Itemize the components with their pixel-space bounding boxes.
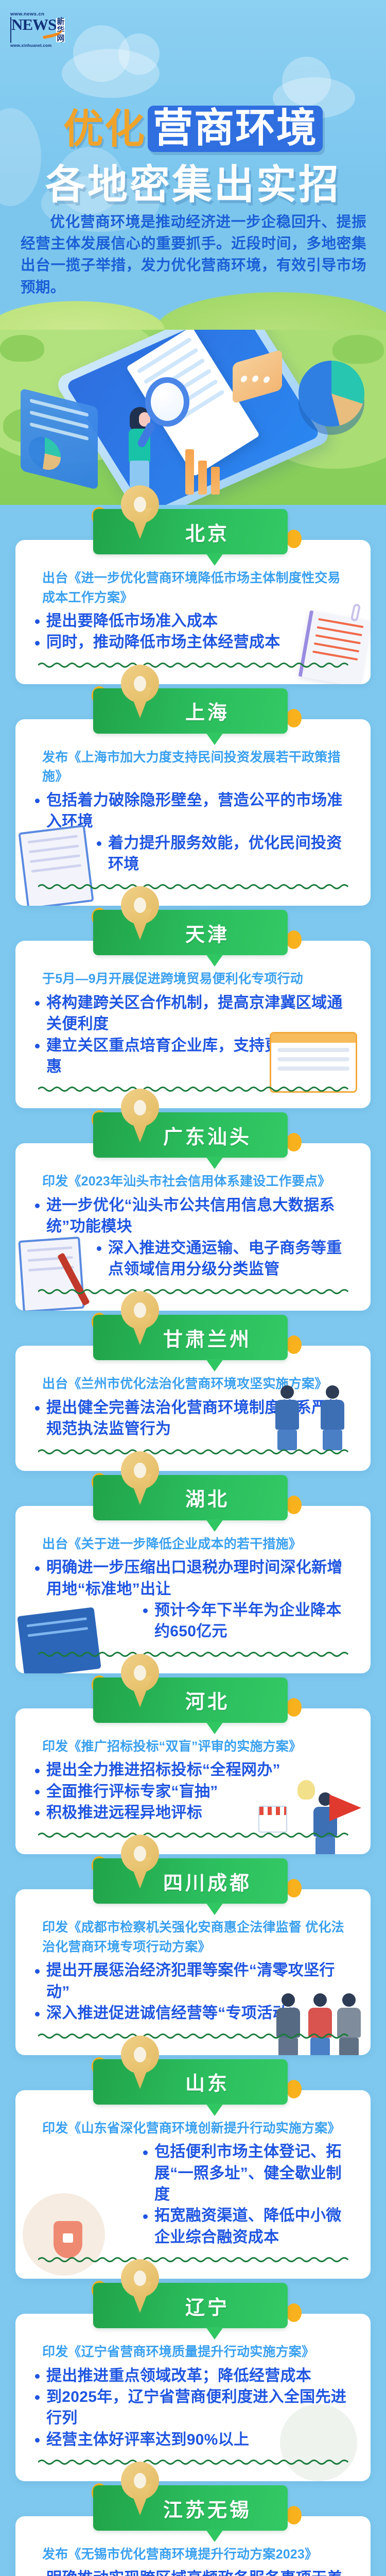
squiggle-divider <box>38 1288 350 1295</box>
measure-list: 提出全力推进招标投标“全程网办”全面推行评标专家“盲抽”积极推进远程异地评标 <box>33 1759 353 1823</box>
policy-document-title: 出台《兰州市优化法治化营商环境攻坚实施方案》 <box>33 1375 353 1394</box>
measure-item: 提出健全完善法治化营商环境制度体系严格规范执法监管行为 <box>33 1397 353 1440</box>
city-section: 山东印发《山东省深化营商环境创新提升行动实施方案》包括便利市场主体登记、拓展“一… <box>0 2055 386 2279</box>
squiggle-divider <box>38 2032 350 2040</box>
map-pin-icon <box>121 665 159 719</box>
title-line2: 各地密集出实招 <box>0 164 386 205</box>
measure-item: 进一步优化“汕头市公共信用信息大数据系统”功能模块 <box>33 1195 353 1238</box>
policy-document-title: 印发《成都市检察机关强化安商惠企法律监督 优化法治化营商环境专项行动方案》 <box>33 1918 353 1957</box>
growth-arrows-icon <box>185 449 220 495</box>
dot-decor <box>286 1496 302 1514</box>
xinhua-logo: www.news.cn NEWS 新华网 www.xinhuanet.com <box>10 11 62 48</box>
map-pin-icon <box>121 2036 159 2090</box>
map-pin-icon <box>121 886 159 941</box>
city-tag[interactable]: 河北 <box>93 1677 288 1723</box>
city-card: 出台《关于进一步降低企业成本的若干措施》明确进一步压缩出口退税办理时间深化新增用… <box>15 1506 371 1673</box>
measure-item: 着力提升服务效能，优化民间投资环境 <box>95 833 353 875</box>
city-card: 出台《进一步优化营商环境降低市场主体制度性交易成本工作方案》提出要降低市场准入成… <box>15 540 371 684</box>
measure-item: 到2025年，辽宁省营商便利度进入全国先进行列 <box>33 2386 353 2429</box>
bush-icon <box>332 335 384 364</box>
dot-decor <box>286 2303 302 2322</box>
city-name: 辽宁 <box>185 2292 230 2320</box>
city-card: 印发《推广招标投标“双盲”评审的实施方案》提出全力推进招标投标“全程网办”全面推… <box>15 1708 371 1855</box>
city-section: 甘肃兰州出台《兰州市优化法治化营商环境攻坚实施方案》提出健全完善法治化营商环境制… <box>0 1311 386 1470</box>
title-orange: 优化 <box>63 109 148 149</box>
measure-item: 拓宽融资渠道、降低中小微企业综合融资成本 <box>141 2205 353 2248</box>
measure-item: 深入推进交通运输、电子商务等重点领域信用分级分类监管 <box>95 1238 353 1280</box>
hill-decor <box>0 283 237 330</box>
measure-item: 全面推行评标专家“盲抽” <box>33 1781 353 1802</box>
city-tag[interactable]: 四川成都 <box>93 1858 288 1904</box>
city-tag[interactable]: 上海 <box>93 688 288 734</box>
measure-item: 同时，推动降低市场主体经营成本 <box>33 632 353 653</box>
city-tag[interactable]: 山东 <box>93 2059 288 2105</box>
measure-list: 进一步优化“汕头市公共信用信息大数据系统”功能模块深入推进交通运输、电子商务等重… <box>33 1195 353 1280</box>
policy-document-title: 印发《辽宁省营商环境质量提升行动实施方案》 <box>33 2343 353 2362</box>
city-name: 四川成都 <box>163 1867 252 1895</box>
city-tag[interactable]: 广东汕头 <box>93 1112 288 1158</box>
city-tag[interactable]: 辽宁 <box>93 2283 288 2328</box>
measure-item: 提出要降低市场准入成本 <box>33 611 353 632</box>
policy-document-title: 发布《上海市加大力度支持民间投资发展若干政策措施》 <box>33 748 353 787</box>
map-pin-icon <box>121 2259 159 2314</box>
measure-list: 将构建跨关区合作机制，提高京津冀区域通关便利度建立关区重点培育企业库，支持更多企… <box>33 992 353 1078</box>
city-name: 广东汕头 <box>163 1121 252 1149</box>
measure-list: 包括便利市场主体登记、拓展“一照多址”、健全歇业制度拓宽融资渠道、降低中小微企业… <box>33 2141 353 2248</box>
city-tag[interactable]: 江苏无锡 <box>93 2485 288 2531</box>
page-title: 优化 营商环境 各地密集出实招 <box>0 106 386 205</box>
measure-list: 明确进一步压缩出口退税办理时间深化新增用地“标准地”出让预计今年下半年为企业降本… <box>33 1557 353 1642</box>
squiggle-divider <box>38 2256 350 2263</box>
measure-list: 包括着力破除隐形壁垒，营造公平的市场准入环境着力提升服务效能，优化民间投资环境 <box>33 790 353 875</box>
measure-item: 将构建跨关区合作机制，提高京津冀区域通关便利度 <box>33 992 353 1035</box>
city-name: 北京 <box>185 518 230 546</box>
city-name: 山东 <box>185 2067 230 2096</box>
measure-item: 经营主体好评率达到90%以上 <box>33 2429 353 2450</box>
city-name: 甘肃兰州 <box>163 1324 252 1352</box>
city-name: 江苏无锡 <box>163 2494 252 2522</box>
city-tag[interactable]: 湖北 <box>93 1475 288 1520</box>
measure-item: 提出推进重点领域改革；降低经营成本 <box>33 2365 353 2386</box>
map-pin-icon <box>121 1654 159 1708</box>
squiggle-divider <box>38 662 350 669</box>
city-section: 天津于5月—9月开展促进跨境贸易便利化专项行动将构建跨关区合作机制，提高京津冀区… <box>0 906 386 1108</box>
squiggle-divider <box>38 1086 350 1093</box>
city-card: 发布《上海市加大力度支持民间投资发展若干政策措施》包括着力破除隐形壁垒，营造公平… <box>15 719 371 906</box>
city-section: 湖北出台《关于进一步降低企业成本的若干措施》明确进一步压缩出口退税办理时间深化新… <box>0 1471 386 1673</box>
policy-document-title: 于5月—9月开展促进跨境贸易便利化专项行动 <box>33 970 353 989</box>
city-section: 北京出台《进一步优化营商环境降低市场主体制度性交易成本工作方案》提出要降低市场准… <box>0 505 386 684</box>
measure-item: 预计今年下半年为企业降本约650亿元 <box>141 1600 353 1642</box>
bush-icon <box>0 335 44 362</box>
city-tag[interactable]: 北京 <box>93 509 288 554</box>
person-illustration <box>126 407 154 495</box>
city-card: 印发《成都市检察机关强化安商惠企法律监督 优化法治化营商环境专项行动方案》提出开… <box>15 1889 371 2055</box>
city-card: 印发《2023年汕头市社会信用体系建设工作要点》进一步优化“汕头市公共信用信息大… <box>15 1143 371 1311</box>
city-name: 河北 <box>185 1686 230 1714</box>
policy-document-title: 印发《2023年汕头市社会信用体系建设工作要点》 <box>33 1172 353 1192</box>
squiggle-divider <box>38 1651 350 1658</box>
measure-list: 提出要降低市场准入成本同时，推动降低市场主体经营成本 <box>33 611 353 653</box>
map-pin-icon <box>121 1089 159 1143</box>
title-boxed: 营商环境 <box>148 106 323 152</box>
map-pin-icon <box>121 485 159 540</box>
policy-document-title: 印发《推广招标投标“双盲”评审的实施方案》 <box>33 1737 353 1757</box>
city-section: 上海发布《上海市加大力度支持民间投资发展若干政策措施》包括着力破除隐形壁垒，营造… <box>0 684 386 906</box>
measure-list: 提出开展惩治经济犯罪等案件“清零攻坚行动”深入推进促进诚信经营等“专项活动” <box>33 1960 353 2024</box>
dot-decor <box>286 1698 302 1717</box>
search-icon <box>145 377 189 427</box>
pie-chart-3d-icon <box>299 361 364 427</box>
city-card: 出台《兰州市优化法治化营商环境攻坚实施方案》提出健全完善法治化营商环境制度体系严… <box>15 1346 371 1470</box>
measure-item: 明确推动实现跨区域高频政务服务事项无差别受理、同标准办理 <box>33 2568 353 2576</box>
city-card: 印发《山东省深化营商环境创新提升行动实施方案》包括便利市场主体登记、拓展“一照多… <box>15 2090 371 2279</box>
cloud-decor <box>62 49 160 98</box>
policy-document-title: 出台《关于进一步降低企业成本的若干措施》 <box>33 1535 353 1554</box>
city-tag[interactable]: 甘肃兰州 <box>93 1315 288 1360</box>
policy-document-title: 出台《进一步优化营商环境降低市场主体制度性交易成本工作方案》 <box>33 569 353 607</box>
squiggle-divider <box>38 1832 350 1839</box>
city-section: 辽宁印发《辽宁省营商环境质量提升行动实施方案》提出推进重点领域改革；降低经营成本… <box>0 2279 386 2481</box>
measure-item: 积极推进远程异地评标 <box>33 1802 353 1823</box>
map-pin-icon <box>121 1451 159 1506</box>
dot-decor <box>286 530 302 548</box>
measure-item: 深入推进促进诚信经营等“专项活动” <box>33 2003 353 2024</box>
pie-chart-icon <box>29 433 61 473</box>
measure-item: 建立关区重点培育企业库，支持更多企业享惠 <box>33 1035 353 1078</box>
logo-url-bottom: www.xinhuanet.com <box>10 43 62 48</box>
dot-decor <box>286 2080 302 2098</box>
policy-document-title: 印发《山东省深化营商环境创新提升行动实施方案》 <box>33 2119 353 2139</box>
city-section: 广东汕头印发《2023年汕头市社会信用体系建设工作要点》进一步优化“汕头市公共信… <box>0 1108 386 1311</box>
measure-list: 提出推进重点领域改革；降低经营成本到2025年，辽宁省营商便利度进入全国先进行列… <box>33 2365 353 2451</box>
squiggle-divider <box>38 883 350 890</box>
measure-item: 包括便利市场主体登记、拓展“一照多址”、健全歇业制度 <box>141 2141 353 2205</box>
squiggle-divider <box>38 1448 350 1455</box>
map-pin-icon <box>121 1291 159 1346</box>
measure-list: 明确推动实现跨区域高频政务服务事项无差别受理、同标准办理大力实施千企万人海外商洽… <box>33 2568 353 2576</box>
city-name: 湖北 <box>185 1483 230 1512</box>
city-card: 印发《辽宁省营商环境质量提升行动实施方案》提出推进重点领域改革；降低经营成本到2… <box>15 2314 371 2481</box>
measure-list: 提出健全完善法治化营商环境制度体系严格规范执法监管行为 <box>33 1397 353 1440</box>
measure-item: 提出开展惩治经济犯罪等案件“清零攻坚行动” <box>33 1960 353 2003</box>
measure-item: 包括着力破除隐形壁垒，营造公平的市场准入环境 <box>33 790 353 833</box>
city-tag[interactable]: 天津 <box>93 910 288 955</box>
city-card: 于5月—9月开展促进跨境贸易便利化专项行动将构建跨关区合作机制，提高京津冀区域通… <box>15 941 371 1108</box>
hero-header: www.news.cn NEWS 新华网 www.xinhuanet.com 优… <box>0 0 386 330</box>
dot-decor <box>286 709 302 727</box>
city-name: 天津 <box>185 919 230 947</box>
sections-list: 北京出台《进一步优化营商环境降低市场主体制度性交易成本工作方案》提出要降低市场准… <box>0 505 386 2576</box>
map-pin-icon <box>121 2462 159 2516</box>
city-section: 江苏无锡发布《无锡市优化营商环境提升行动方案2023》明确推动实现跨区域高频政务… <box>0 2481 386 2576</box>
dot-decor <box>286 2506 302 2524</box>
policy-document-title: 发布《无锡市优化营商环境提升行动方案2023》 <box>33 2545 353 2565</box>
measure-item: 明确进一步压缩出口退税办理时间深化新增用地“标准地”出让 <box>33 1557 353 1600</box>
hero-illustration <box>0 330 386 505</box>
map-pin-icon <box>121 1835 159 1889</box>
squiggle-divider <box>38 2459 350 2466</box>
city-name: 上海 <box>185 697 230 725</box>
city-section: 河北印发《推广招标投标“双盲”评审的实施方案》提出全力推进招标投标“全程网办”全… <box>0 1673 386 1855</box>
measure-item: 提出全力推进招标投标“全程网办” <box>33 1759 353 1781</box>
city-section: 四川成都印发《成都市检察机关强化安商惠企法律监督 优化法治化营商环境专项行动方案… <box>0 1854 386 2055</box>
